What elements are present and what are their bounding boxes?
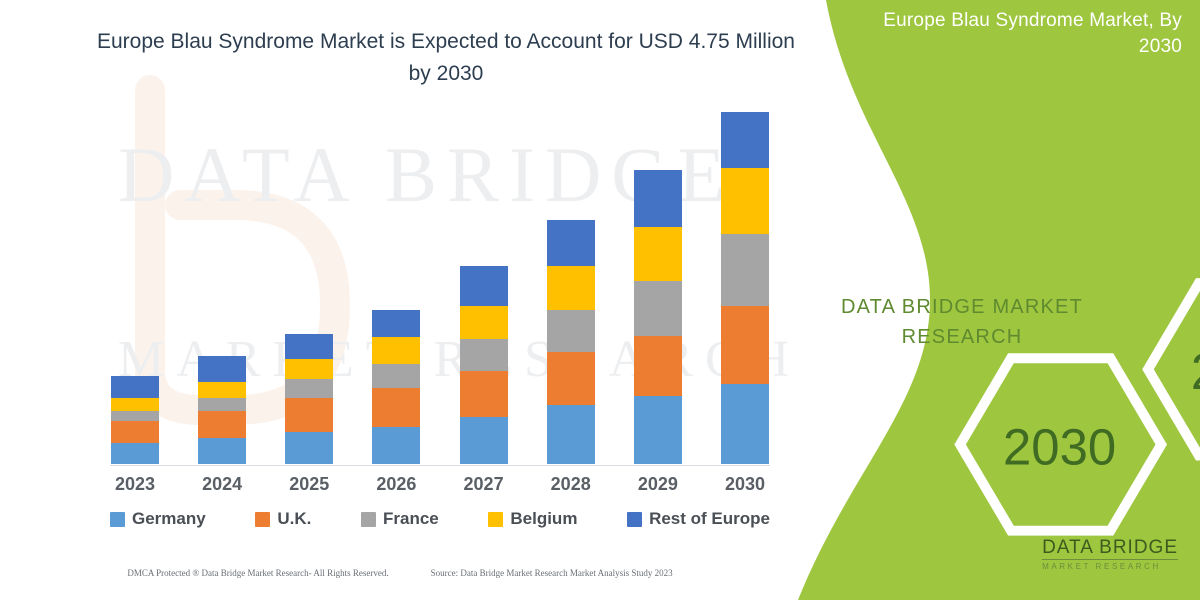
svg-text:2023: 2023 [1191, 343, 1200, 400]
bar-segment [285, 359, 333, 379]
bar-segment [721, 384, 769, 464]
x-axis-labels: 20232024202520262027202820292030 [110, 474, 770, 495]
panel-brand-line-2: RESEARCH [812, 322, 1112, 352]
bar-segment [721, 168, 769, 234]
bar-group [110, 140, 770, 464]
hexagon-2030: 2030 [960, 358, 1161, 530]
footer-source-text: Source: Data Bridge Market Research Mark… [431, 568, 673, 578]
bar-segment [460, 417, 508, 464]
x-axis-line [110, 465, 770, 466]
bar-column [546, 140, 596, 464]
x-axis-label: 2025 [284, 474, 334, 495]
legend-item[interactable]: U.K. [255, 509, 311, 529]
x-axis-label: 2029 [633, 474, 683, 495]
bar-column [110, 140, 160, 464]
legend-label: France [383, 509, 439, 529]
bar-segment [547, 266, 595, 310]
bar-segment [634, 281, 682, 336]
panel-brand-text: DATA BRIDGE MARKET RESEARCH [812, 292, 1112, 352]
bar-segment [285, 398, 333, 432]
legend-label: U.K. [277, 509, 311, 529]
footer-dmca-text: DMCA Protected ® Data Bridge Market Rese… [127, 568, 388, 578]
bar-segment [111, 376, 159, 398]
legend-label: Rest of Europe [649, 509, 770, 529]
svg-text:2030: 2030 [1003, 418, 1116, 475]
bar-column [284, 140, 334, 464]
stacked-bar [372, 310, 420, 464]
bar-segment [547, 352, 595, 405]
bar-segment [547, 220, 595, 266]
bar-segment [634, 227, 682, 281]
stacked-bar [198, 356, 246, 464]
bar-segment [460, 339, 508, 371]
bar-segment [372, 310, 420, 337]
legend-label: Germany [132, 509, 206, 529]
bar-segment [198, 411, 246, 438]
bar-segment [634, 396, 682, 464]
bar-segment [111, 421, 159, 443]
legend-swatch-icon [627, 512, 642, 527]
legend-item[interactable]: Germany [110, 509, 206, 529]
stacked-bar [111, 376, 159, 464]
legend-label: Belgium [510, 509, 577, 529]
x-axis-label: 2023 [110, 474, 160, 495]
x-axis-label: 2026 [371, 474, 421, 495]
bar-segment [372, 364, 420, 388]
bar-segment [547, 310, 595, 352]
bar-segment [372, 388, 420, 427]
bar-segment [285, 379, 333, 398]
stacked-bar [285, 334, 333, 464]
chart-title: Europe Blau Syndrome Market is Expected … [96, 26, 796, 89]
bar-segment [721, 112, 769, 168]
green-side-panel: Europe Blau Syndrome Market, By 2030 202… [780, 0, 1200, 600]
bar-segment [721, 306, 769, 384]
legend-item[interactable]: France [361, 509, 439, 529]
legend-item[interactable]: Belgium [488, 509, 577, 529]
hexagon-badges: 2023 2030 [938, 108, 1128, 233]
bar-segment [198, 398, 246, 411]
bar-segment [198, 438, 246, 464]
company-logo: DATA BRIDGE MARKET RESEARCH [978, 530, 1178, 578]
bar-segment [634, 336, 682, 396]
bar-segment [372, 427, 420, 464]
legend-swatch-icon [361, 512, 376, 527]
chart-legend: GermanyU.K.FranceBelgiumRest of Europe [110, 509, 770, 529]
bar-segment [460, 266, 508, 306]
bar-segment [111, 443, 159, 464]
legend-swatch-icon [488, 512, 503, 527]
bar-column [720, 140, 770, 464]
panel-brand-line-1: DATA BRIDGE MARKET [812, 292, 1112, 322]
bar-segment [634, 170, 682, 227]
stacked-bar [460, 266, 508, 464]
x-axis-label: 2028 [546, 474, 596, 495]
bar-segment [547, 405, 595, 464]
bar-column [197, 140, 247, 464]
logo-mark-icon [978, 530, 1032, 578]
stacked-bar [634, 170, 682, 464]
bar-segment [285, 432, 333, 464]
bar-segment [198, 356, 246, 382]
panel-title: Europe Blau Syndrome Market, By 2030 [852, 8, 1182, 59]
bar-segment [460, 371, 508, 417]
chart-plot-area [110, 140, 770, 466]
bar-segment [721, 234, 769, 306]
footer: DMCA Protected ® Data Bridge Market Rese… [0, 568, 800, 578]
stacked-bar [547, 220, 595, 464]
bar-column [459, 140, 509, 464]
bar-segment [372, 337, 420, 364]
x-axis-label: 2030 [720, 474, 770, 495]
stacked-bar [721, 112, 769, 464]
x-axis-label: 2024 [197, 474, 247, 495]
bar-segment [111, 411, 159, 421]
legend-item[interactable]: Rest of Europe [627, 509, 770, 529]
bar-segment [285, 334, 333, 359]
infographic-root: DATA BRIDGE MARKET RESEARCH Europe Blau … [0, 0, 1200, 600]
legend-swatch-icon [110, 512, 125, 527]
bar-segment [460, 306, 508, 339]
bar-column [371, 140, 421, 464]
legend-swatch-icon [255, 512, 270, 527]
bar-column [633, 140, 683, 464]
x-axis-label: 2027 [459, 474, 509, 495]
bar-segment [198, 382, 246, 398]
bar-segment [111, 398, 159, 411]
